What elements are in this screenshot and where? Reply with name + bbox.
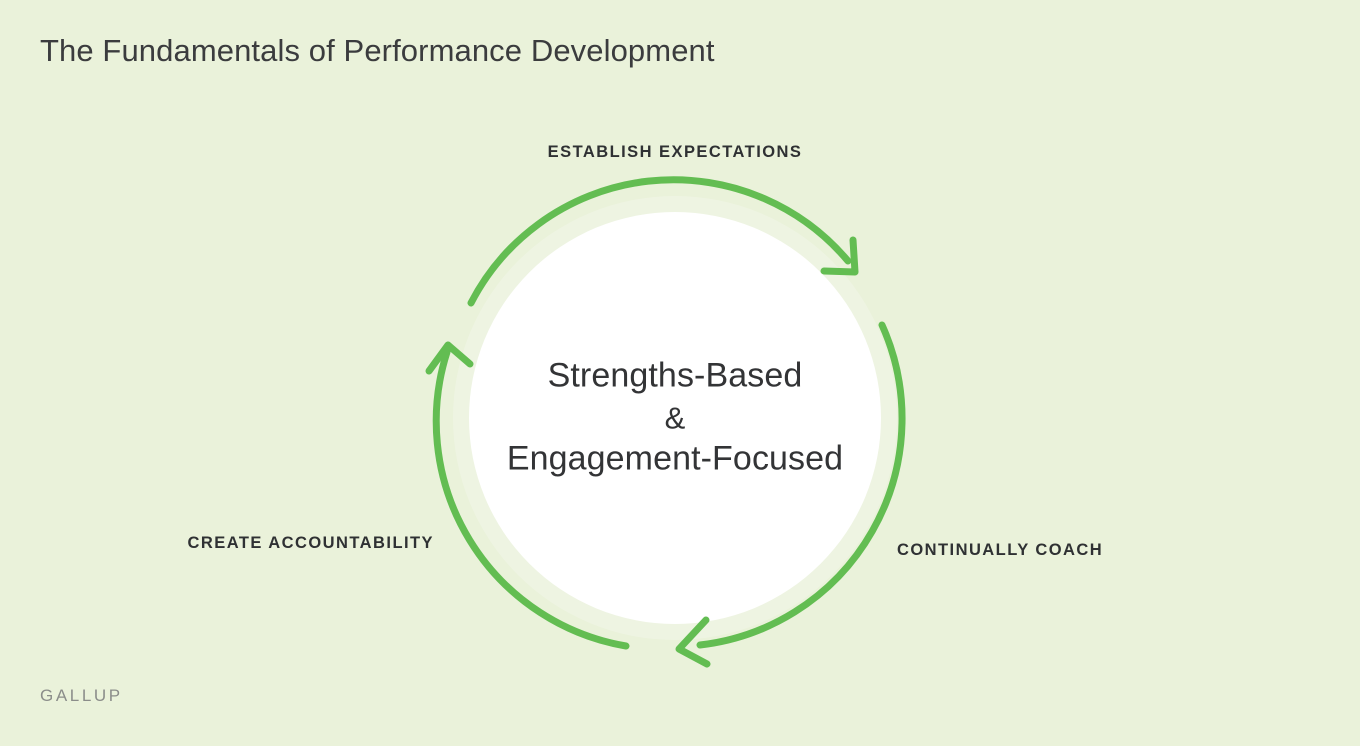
center-disc (469, 212, 881, 624)
stage-label-create-accountability: CREATE ACCOUNTABILITY (188, 534, 434, 553)
stage-label-establish-expectations: ESTABLISH EXPECTATIONS (548, 143, 803, 162)
cycle-diagram: Strengths-Based & Engagement-Focused EST… (0, 0, 1360, 746)
gallup-logo: GALLUP (40, 686, 123, 706)
stage-label-continually-coach: CONTINUALLY COACH (897, 541, 1103, 560)
slide-canvas: The Fundamentals of Performance Developm… (0, 0, 1360, 746)
cycle-diagram-svg (0, 0, 1360, 746)
